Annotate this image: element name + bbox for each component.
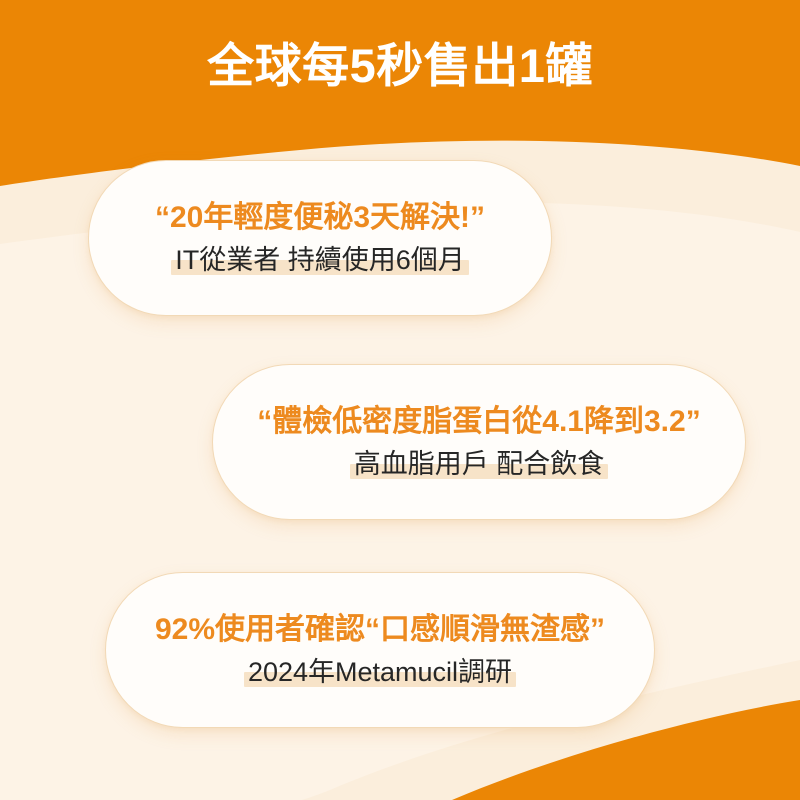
testimonial-quote: “體檢低密度脂蛋白從4.1降到3.2” bbox=[257, 404, 700, 440]
testimonial-card-1: “20年輕度便秘3天解決!” IT從業者 持續使用6個月 bbox=[88, 160, 552, 316]
testimonial-source: IT從業者 持續使用6個月 bbox=[175, 245, 465, 275]
testimonial-source-highlight: IT從業者 持續使用6個月 bbox=[175, 244, 465, 276]
testimonial-source: 高血脂用戶 配合飲食 bbox=[354, 449, 605, 479]
testimonial-card-3: 92%使用者確認“口感順滑無渣感” 2024年Metamucil調研 bbox=[105, 572, 655, 728]
testimonial-quote: 92%使用者確認“口感順滑無渣感” bbox=[155, 612, 605, 648]
testimonial-quote: “20年輕度便秘3天解決!” bbox=[155, 200, 485, 236]
testimonial-card-2: “體檢低密度脂蛋白從4.1降到3.2” 高血脂用戶 配合飲食 bbox=[212, 364, 746, 520]
page-title: 全球每5秒售出1罐 bbox=[0, 38, 800, 93]
testimonial-source-highlight: 2024年Metamucil調研 bbox=[248, 656, 512, 688]
testimonial-source-highlight: 高血脂用戶 配合飲食 bbox=[354, 448, 605, 480]
poster-root: 全球每5秒售出1罐 “20年輕度便秘3天解決!” IT從業者 持續使用6個月 “… bbox=[0, 0, 800, 800]
testimonial-source: 2024年Metamucil調研 bbox=[248, 657, 512, 687]
